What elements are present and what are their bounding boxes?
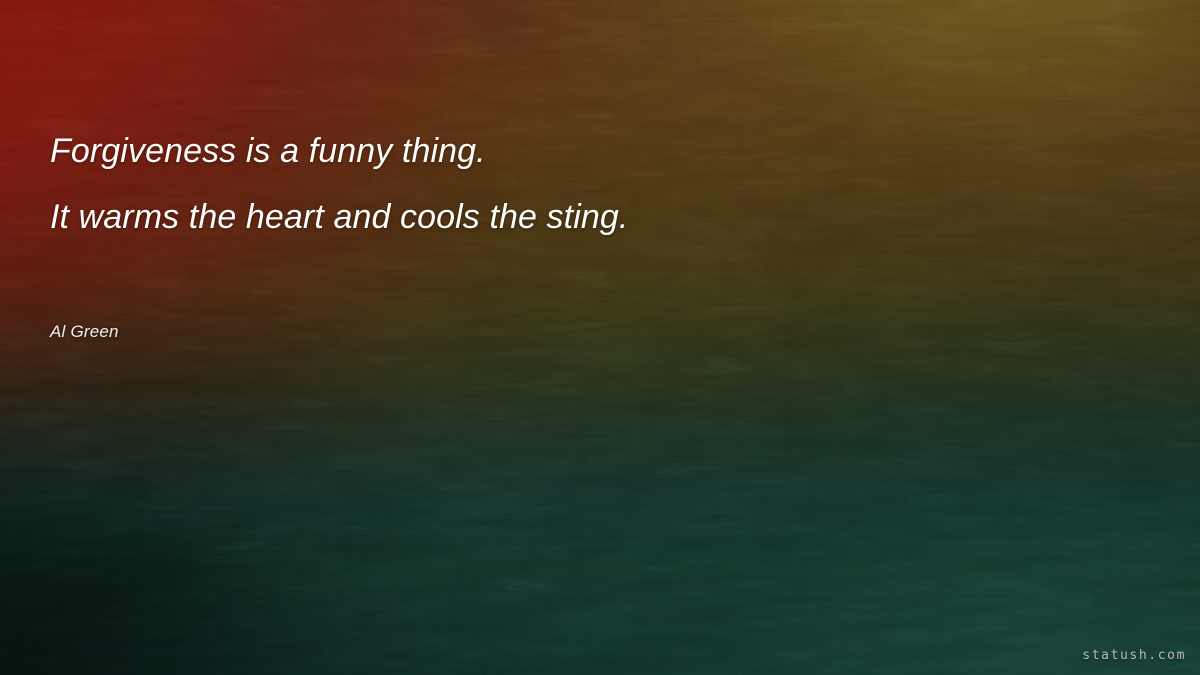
quote-line-2: It warms the heart and cools the sting.	[50, 184, 1110, 250]
quote-text-block: Forgiveness is a funny thing. It warms t…	[50, 118, 1110, 250]
quote-author: Al Green	[50, 322, 119, 342]
quote-card: Forgiveness is a funny thing. It warms t…	[0, 0, 1200, 675]
site-watermark[interactable]: statush.com	[1082, 648, 1186, 663]
content-layer: Forgiveness is a funny thing. It warms t…	[0, 0, 1200, 675]
quote-line-1: Forgiveness is a funny thing.	[50, 118, 1110, 184]
